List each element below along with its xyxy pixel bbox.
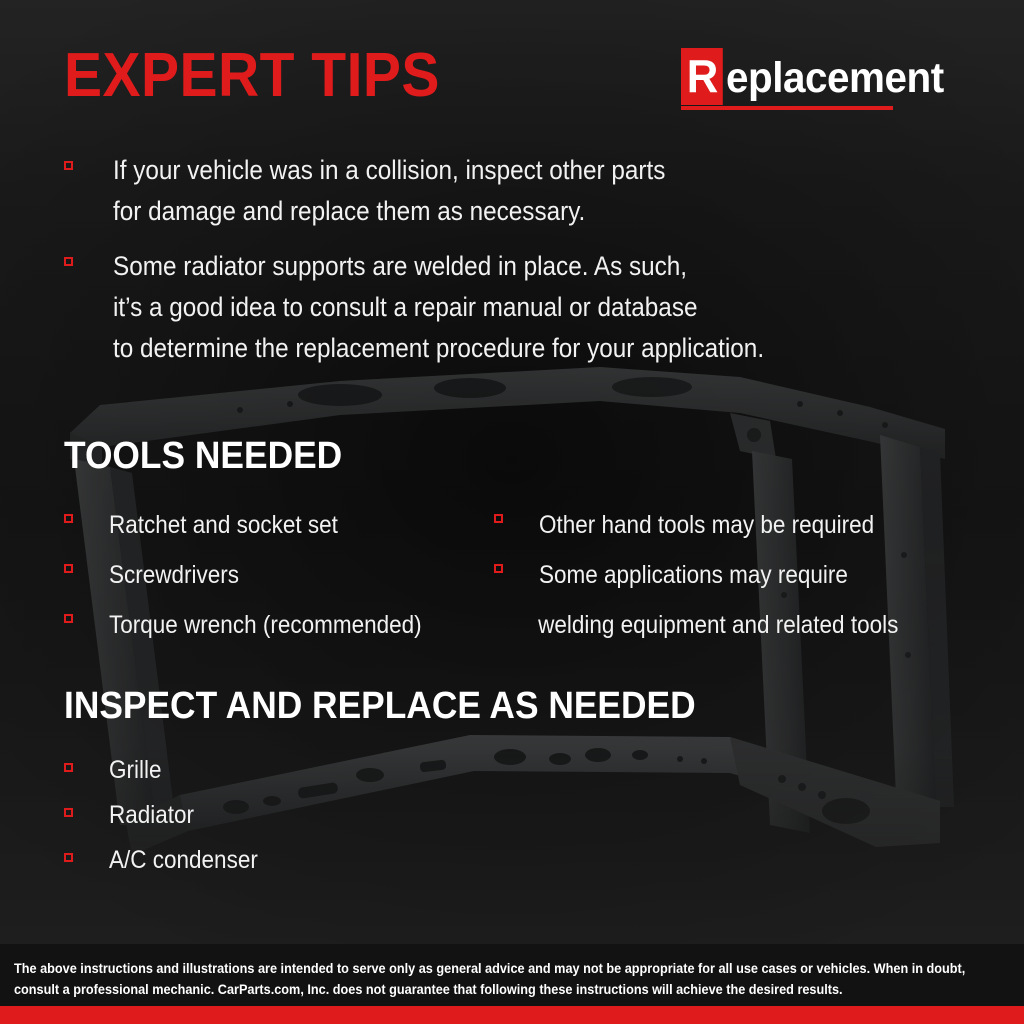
bullet-square-icon [64,808,73,817]
tool-label: Ratchet and socket set [109,503,338,548]
logo-underline [681,106,893,110]
footer-disclaimer-bar: The above instructions and illustrations… [0,944,1024,1006]
bullet-square-icon [64,763,73,772]
bottom-accent-bar [0,1006,1024,1024]
inspect-replace-heading: INSPECT AND REPLACE AS NEEDED [64,684,696,728]
bullet-square-icon [64,514,73,523]
bullet-square-icon [64,257,73,266]
tool-label: Some applications may require [539,553,848,598]
tool-label: Screwdrivers [109,553,239,598]
tool-label: Torque wrench (recommended) [109,603,422,648]
tools-needed-heading: TOOLS NEEDED [64,434,342,478]
logo-badge-letter: R [681,48,723,105]
tip-line: for damage and replace them as necessary… [113,196,585,226]
list-item: Screwdrivers [64,553,494,598]
tip-line: to determine the replacement procedure f… [113,333,764,363]
list-item: Some applications may require [494,553,964,598]
list-item: A/C condenser [64,842,564,878]
list-item: Some radiator supports are welded in pla… [64,246,964,369]
inspect-item-label: A/C condenser [109,842,258,878]
inspect-item-label: Radiator [109,797,194,833]
expert-tips-list: If your vehicle was in a collision, insp… [64,150,964,383]
list-item: Torque wrench (recommended) [64,603,494,648]
bullet-square-icon [494,564,503,573]
logo-row: R eplacement [681,48,958,105]
list-item: Other hand tools may be required [494,503,964,548]
inspect-item-label: Grille [109,752,162,788]
disclaimer-text: The above instructions and illustrations… [14,958,1006,1000]
page-title: EXPERT TIPS [64,42,440,110]
tools-right-column: Other hand tools may be required Some ap… [494,503,964,653]
list-item: Grille [64,752,564,788]
tool-label: Other hand tools may be required [539,503,874,548]
list-item: Radiator [64,797,564,833]
tool-label-continuation: welding equipment and related tools [530,603,921,648]
bullet-square-icon [494,514,503,523]
tools-left-column: Ratchet and socket set Screwdrivers Torq… [64,503,494,653]
bullet-square-icon [64,564,73,573]
tools-needed-list: Ratchet and socket set Screwdrivers Torq… [64,503,964,653]
inspect-replace-list: Grille Radiator A/C condenser [64,752,564,887]
list-item: Ratchet and socket set [64,503,494,548]
tip-line: Some radiator supports are welded in pla… [113,251,687,281]
tip-line: If your vehicle was in a collision, insp… [113,155,665,185]
tip-line: it’s a good idea to consult a repair man… [113,292,697,322]
bullet-square-icon [64,161,73,170]
bullet-square-icon [64,853,73,862]
bullet-square-icon [64,614,73,623]
expert-tips-infographic: EXPERT TIPS R eplacement If your vehicle… [0,0,1024,1024]
replacement-logo: R eplacement [681,48,958,110]
logo-wordmark: eplacement [726,53,944,103]
list-item: If your vehicle was in a collision, insp… [64,150,964,232]
